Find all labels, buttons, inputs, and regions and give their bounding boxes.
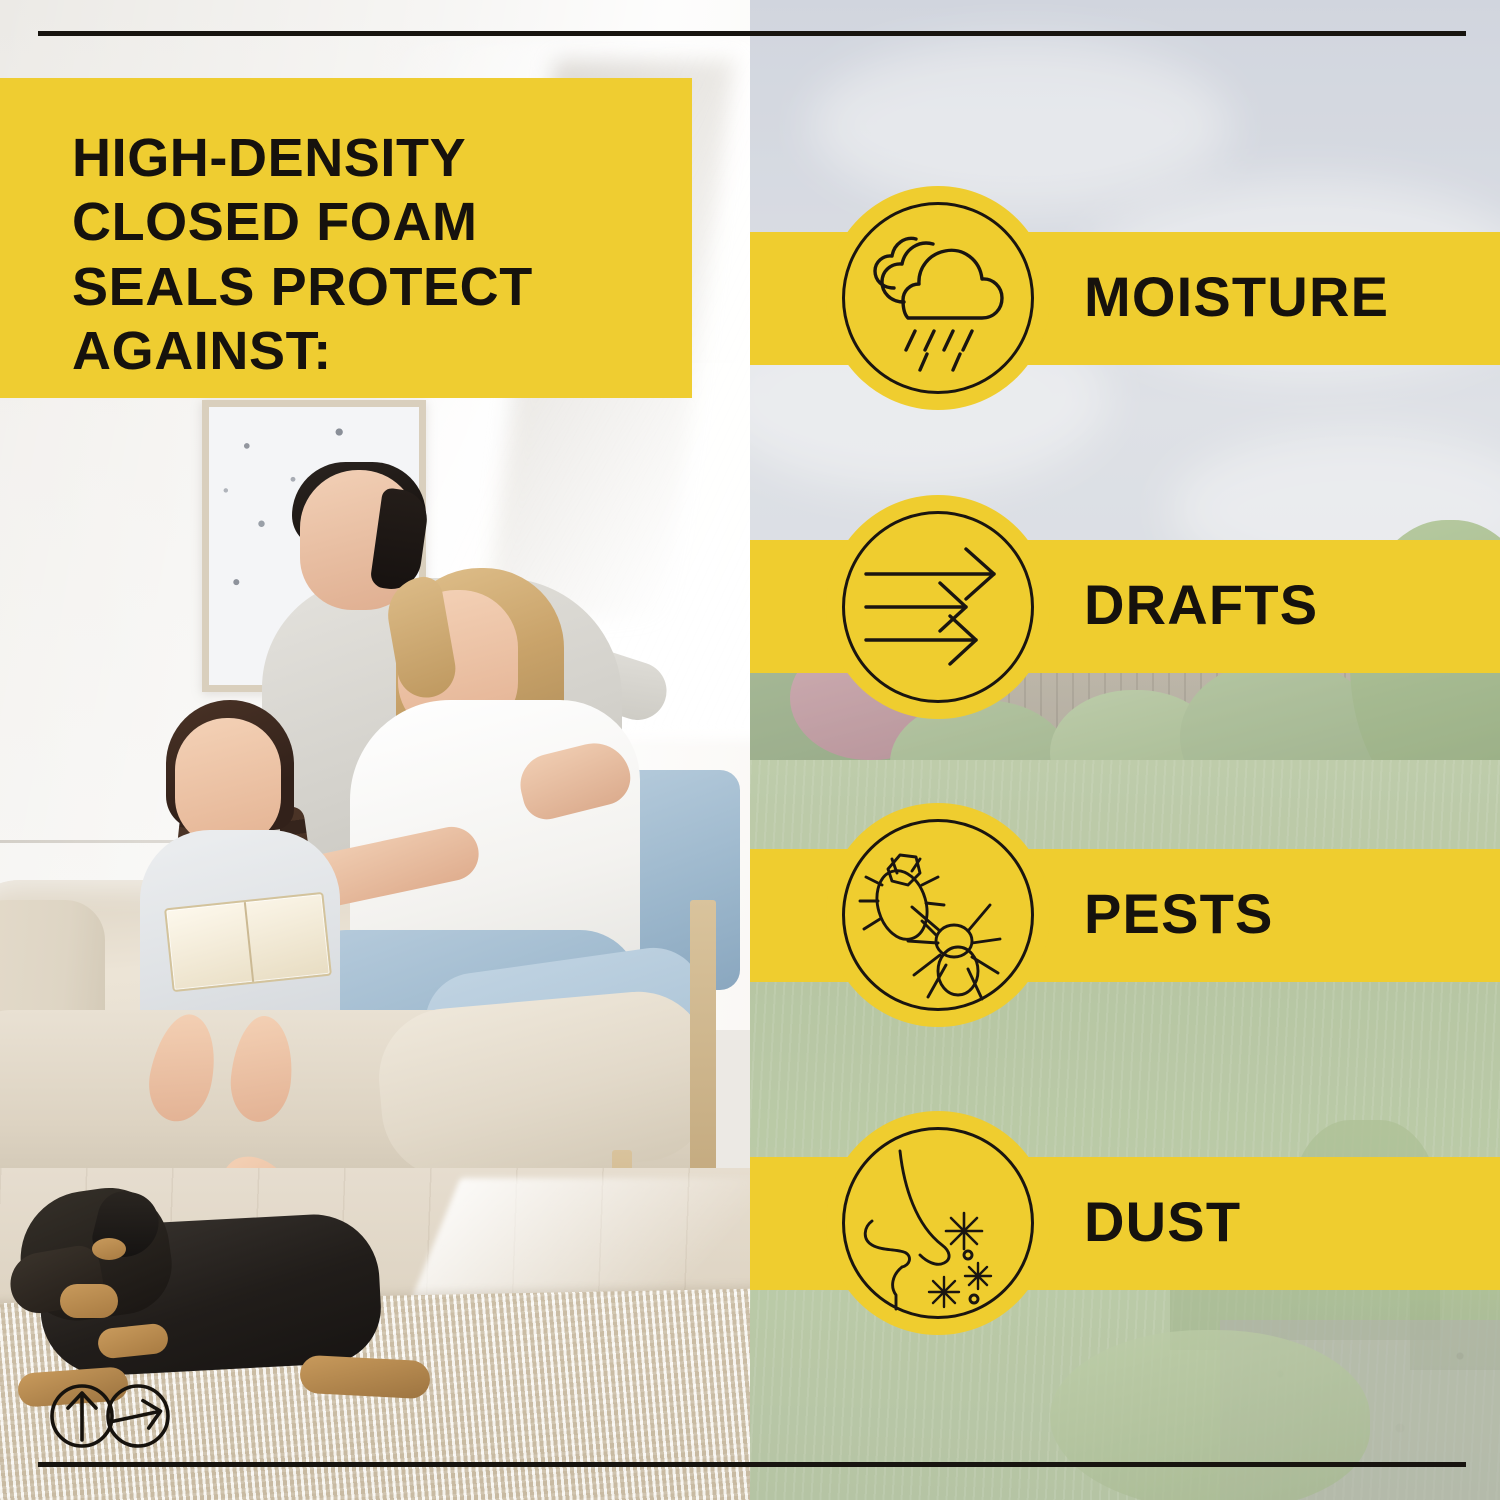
- left-photo-panel: HIGH-DENSITY CLOSED FOAM SEALS PROTECT A…: [0, 0, 750, 1500]
- page-title: HIGH-DENSITY CLOSED FOAM SEALS PROTECT A…: [72, 126, 662, 383]
- headline-block: HIGH-DENSITY CLOSED FOAM SEALS PROTECT A…: [0, 78, 692, 398]
- feature-label-pests: PESTS: [1084, 881, 1274, 946]
- poster-canvas: HIGH-DENSITY CLOSED FOAM SEALS PROTECT A…: [0, 0, 1500, 1500]
- rain-cloud-icon: [842, 202, 1034, 394]
- feature-label-drafts: DRAFTS: [1084, 572, 1318, 637]
- horizontal-rule-top: [38, 31, 1466, 36]
- air-arrows-icon: [842, 511, 1034, 703]
- dog-eyebrow-marking: [92, 1238, 126, 1260]
- sofa-bolster-cushion: [373, 986, 717, 1184]
- up-right-arrows-logo[interactable]: [46, 1382, 176, 1452]
- feature-label-dust: DUST: [1084, 1189, 1241, 1254]
- dog-muzzle-marking: [60, 1284, 118, 1318]
- girl-head: [175, 718, 281, 846]
- feature-label-moisture: MOISTURE: [1084, 264, 1389, 329]
- nose-dust-particles-icon: [842, 1127, 1034, 1319]
- feature-icon-disc-moisture[interactable]: [826, 186, 1050, 410]
- feature-icon-disc-drafts[interactable]: [826, 495, 1050, 719]
- horizontal-rule-bottom: [38, 1462, 1466, 1467]
- dog-hind-paw: [299, 1355, 431, 1400]
- sofa-frame-leg: [690, 900, 716, 1200]
- feature-icon-disc-pests[interactable]: [826, 803, 1050, 1027]
- bug-spider-icon: [842, 819, 1034, 1011]
- open-book: [164, 892, 332, 992]
- feature-icon-disc-dust[interactable]: [826, 1111, 1050, 1335]
